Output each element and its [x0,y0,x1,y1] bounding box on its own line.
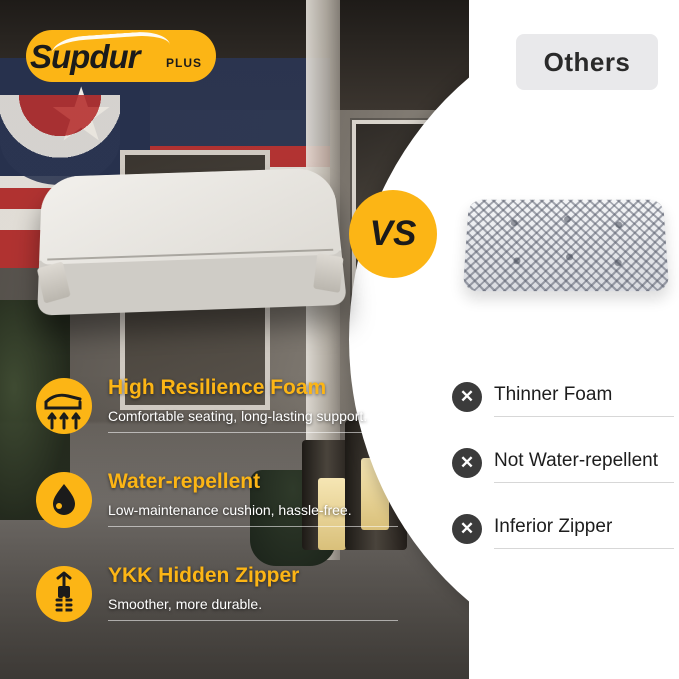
con-label: Thinner Foam [494,384,612,406]
water-drop-icon [36,472,92,528]
tuft-button [614,259,621,266]
cross-circle-icon: ✕ [452,514,482,544]
zipper-glyph [36,566,92,622]
cushion-tie [313,253,343,293]
con-label: Inferior Zipper [494,516,612,538]
feature-subtitle: Low-maintenance cushion, hassle-free. [108,502,352,518]
others-label: Others [516,34,658,90]
feature-title: High Resilience Foam [108,376,326,400]
tuft-button [564,216,571,222]
patriotic-bunting [0,95,120,185]
product-comparison-image: ★ Supdur PLUS Others VS [0,0,679,679]
foam-resilience-icon [36,378,92,434]
con-item-water: ✕ Not Water-repellent [452,448,672,508]
feature-divider [108,432,398,433]
feature-divider [108,526,398,527]
foam-resilience-glyph [36,378,92,434]
cushion-tie [37,261,71,303]
vs-label: VS [349,190,437,278]
con-label: Not Water-repellent [494,450,658,472]
tuft-button [566,254,573,261]
con-item-foam: ✕ Thinner Foam [452,382,672,442]
product-cushion-left [37,168,347,316]
water-drop-glyph [36,472,92,528]
tuft-button [513,257,520,264]
con-divider [494,416,674,417]
feature-item-water: Water-repellent Low-maintenance cushion,… [36,472,396,546]
feature-item-foam: High Resilience Foam Comfortable seating… [36,378,396,452]
feature-title: YKK Hidden Zipper [108,564,299,588]
feature-title: Water-repellent [108,470,260,494]
brand-suffix: PLUS [166,56,202,70]
product-cushion-right [463,200,669,291]
zipper-icon [36,566,92,622]
tuft-button [615,222,622,228]
feature-item-zipper: YKK Hidden Zipper Smoother, more durable… [36,566,396,640]
feature-divider [108,620,398,621]
con-divider [494,482,674,483]
cross-circle-icon: ✕ [452,382,482,412]
con-divider [494,548,674,549]
feature-subtitle: Smoother, more durable. [108,596,262,612]
cross-circle-icon: ✕ [452,448,482,478]
feature-subtitle: Comfortable seating, long-lasting suppor… [108,408,367,424]
tuft-button [511,220,518,226]
others-panel-fill [469,0,679,679]
con-item-zipper: ✕ Inferior Zipper [452,514,672,574]
